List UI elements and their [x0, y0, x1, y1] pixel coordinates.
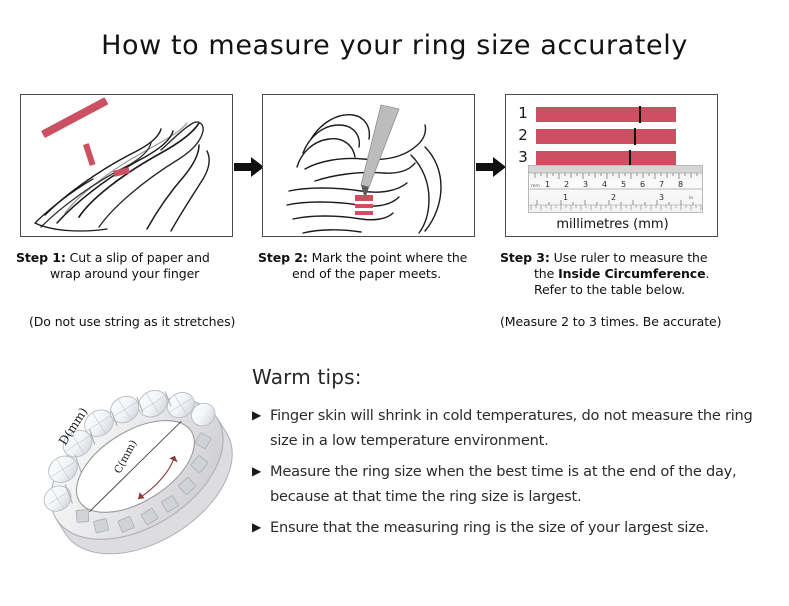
ruler-scale: 1 2 3 4 5 6 7 8 mm 1 2 3 in: [529, 166, 702, 212]
strip-number-3: 3: [516, 148, 530, 166]
step-1-label: Step 1:: [16, 250, 66, 265]
svg-text:3: 3: [583, 180, 588, 189]
step-panel-2: [262, 94, 475, 237]
tip-item-1: ▶ Finger skin will shrink in cold temper…: [252, 403, 757, 453]
step-1-line1: Cut a slip of paper and: [70, 250, 210, 265]
step-2-line2: end of the paper meets.: [258, 266, 490, 282]
svg-text:2: 2: [564, 180, 569, 189]
svg-text:in: in: [689, 195, 693, 201]
step-3-caption: Step 3: Use ruler to measure the the Ins…: [500, 250, 745, 298]
warm-tips-heading: Warm tips:: [252, 365, 757, 389]
svg-text:1: 1: [545, 180, 550, 189]
tip-item-2: ▶ Measure the ring size when the best ti…: [252, 459, 757, 509]
step-panel-1: [20, 94, 233, 237]
paper-strip-red: [41, 97, 108, 138]
strip-bar-3: [536, 151, 676, 166]
pen-icon: [361, 105, 399, 199]
paper-strip-red: [355, 195, 373, 215]
step-2-label: Step 2:: [258, 250, 308, 265]
ring-illustration: [30, 352, 245, 587]
step-2-line1: Mark the point where the: [312, 250, 468, 265]
measured-strip-3: 3: [516, 151, 706, 166]
page-title: How to measure your ring size accurately: [0, 30, 789, 61]
measured-strip-1: 1: [516, 107, 706, 122]
strip-bar-1: [536, 107, 676, 122]
step-2-caption: Step 2: Mark the point where the end of …: [258, 250, 490, 282]
svg-text:5: 5: [621, 180, 626, 189]
bullet-triangle-icon-2: ▶: [252, 459, 270, 484]
hand-marking-paper-illustration: [263, 95, 474, 236]
ring-diagram: [30, 352, 245, 587]
hand-with-paper-strip-illustration: [21, 95, 232, 236]
tip-text-1: Finger skin will shrink in cold temperat…: [270, 403, 757, 453]
step-3-line2: the Inside Circumference.: [500, 266, 745, 282]
steps-row: 1 2 3: [0, 94, 789, 239]
warm-tips-section: Warm tips: ▶ Finger skin will shrink in …: [252, 365, 757, 546]
strip-number-2: 2: [516, 126, 530, 144]
tip-text-3: Ensure that the measuring ring is the si…: [270, 515, 757, 540]
tip-text-2: Measure the ring size when the best time…: [270, 459, 757, 509]
strip-bar-2: [536, 129, 676, 144]
strip-mark-1: [639, 106, 641, 123]
inside-circumference-emphasis: Inside Circumference: [558, 266, 705, 281]
svg-text:mm: mm: [531, 184, 540, 189]
step-3-note: (Measure 2 to 3 times. Be accurate): [500, 314, 721, 329]
tip-item-3: ▶ Ensure that the measuring ring is the …: [252, 515, 757, 540]
svg-text:2: 2: [611, 193, 616, 202]
right-arrow-icon-2: [476, 156, 506, 178]
strip-mark-2: [634, 128, 636, 145]
step-1-note: (Do not use string as it stretches): [29, 314, 235, 329]
bullet-triangle-icon-1: ▶: [252, 403, 270, 428]
strip-number-1: 1: [516, 104, 530, 122]
right-arrow-icon-1: [234, 156, 264, 178]
measured-strip-2: 2: [516, 129, 706, 144]
step-3-line2-post: .: [705, 266, 709, 281]
step-3-line3: Refer to the table below.: [500, 282, 745, 298]
ruler-unit-caption: millimetres (mm): [506, 217, 718, 232]
svg-text:7: 7: [659, 180, 664, 189]
step-1-caption: Step 1: Cut a slip of paper and wrap aro…: [16, 250, 246, 282]
bullet-triangle-icon-3: ▶: [252, 515, 270, 540]
svg-text:6: 6: [640, 180, 645, 189]
step-3-line2-pre: the: [534, 266, 558, 281]
ruler: 1 2 3 4 5 6 7 8 mm 1 2 3 in: [528, 165, 703, 213]
svg-text:1: 1: [563, 193, 568, 202]
svg-text:4: 4: [602, 180, 607, 189]
step-1-line2: wrap around your finger: [16, 266, 246, 282]
step-3-line1: Use ruler to measure the: [554, 250, 708, 265]
step-panel-3: 1 2 3: [505, 94, 718, 237]
step-3-label: Step 3:: [500, 250, 550, 265]
svg-text:8: 8: [678, 180, 683, 189]
svg-text:3: 3: [659, 193, 664, 202]
